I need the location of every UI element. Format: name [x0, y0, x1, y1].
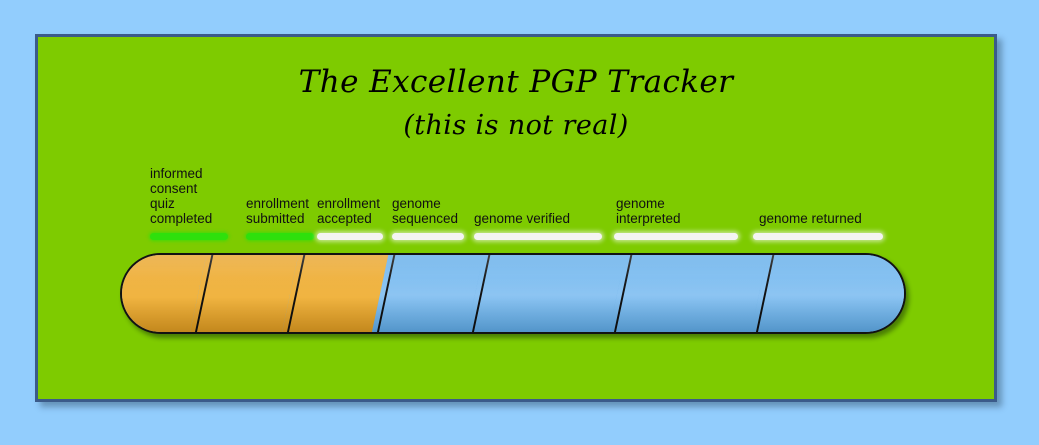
stage-label: genome verified	[474, 211, 570, 226]
title-subtitle: (this is not real)	[38, 109, 994, 144]
stage-genome-interpreted[interactable]: genome interpreted	[616, 202, 740, 240]
stage-genome-returned[interactable]: genome returned	[759, 217, 889, 240]
stage-informed-consent-quiz-completed[interactable]: informed consent quiz completed	[150, 172, 228, 240]
stage-label: genome sequenced	[392, 196, 458, 226]
stage-enrollment-submitted[interactable]: enrollment submitted	[246, 202, 314, 240]
stage-genome-sequenced[interactable]: genome sequenced	[392, 202, 464, 240]
stage-tick-done	[150, 233, 228, 240]
stage-enrollment-accepted[interactable]: enrollment accepted	[317, 202, 383, 240]
page-title: The Excellent PGP Tracker (this is not r…	[38, 63, 994, 143]
stage-label: informed consent quiz completed	[150, 166, 212, 226]
progress-bar	[120, 253, 906, 334]
stage-tick-todo	[753, 233, 883, 240]
stage-tick-todo	[474, 233, 602, 240]
stage-genome-verified[interactable]: genome verified	[474, 217, 602, 240]
stage-tick-done	[246, 233, 314, 240]
stage-tick-todo	[614, 233, 738, 240]
stage-label: genome returned	[759, 211, 862, 226]
stage-label: enrollment submitted	[246, 196, 309, 226]
stage-tick-todo	[317, 233, 383, 240]
stage-tick-todo	[392, 233, 464, 240]
title-main: The Excellent PGP Tracker	[38, 63, 994, 103]
stage-label: genome interpreted	[616, 196, 681, 226]
progress-bar-track	[120, 253, 906, 334]
stage-label: enrollment accepted	[317, 196, 380, 226]
